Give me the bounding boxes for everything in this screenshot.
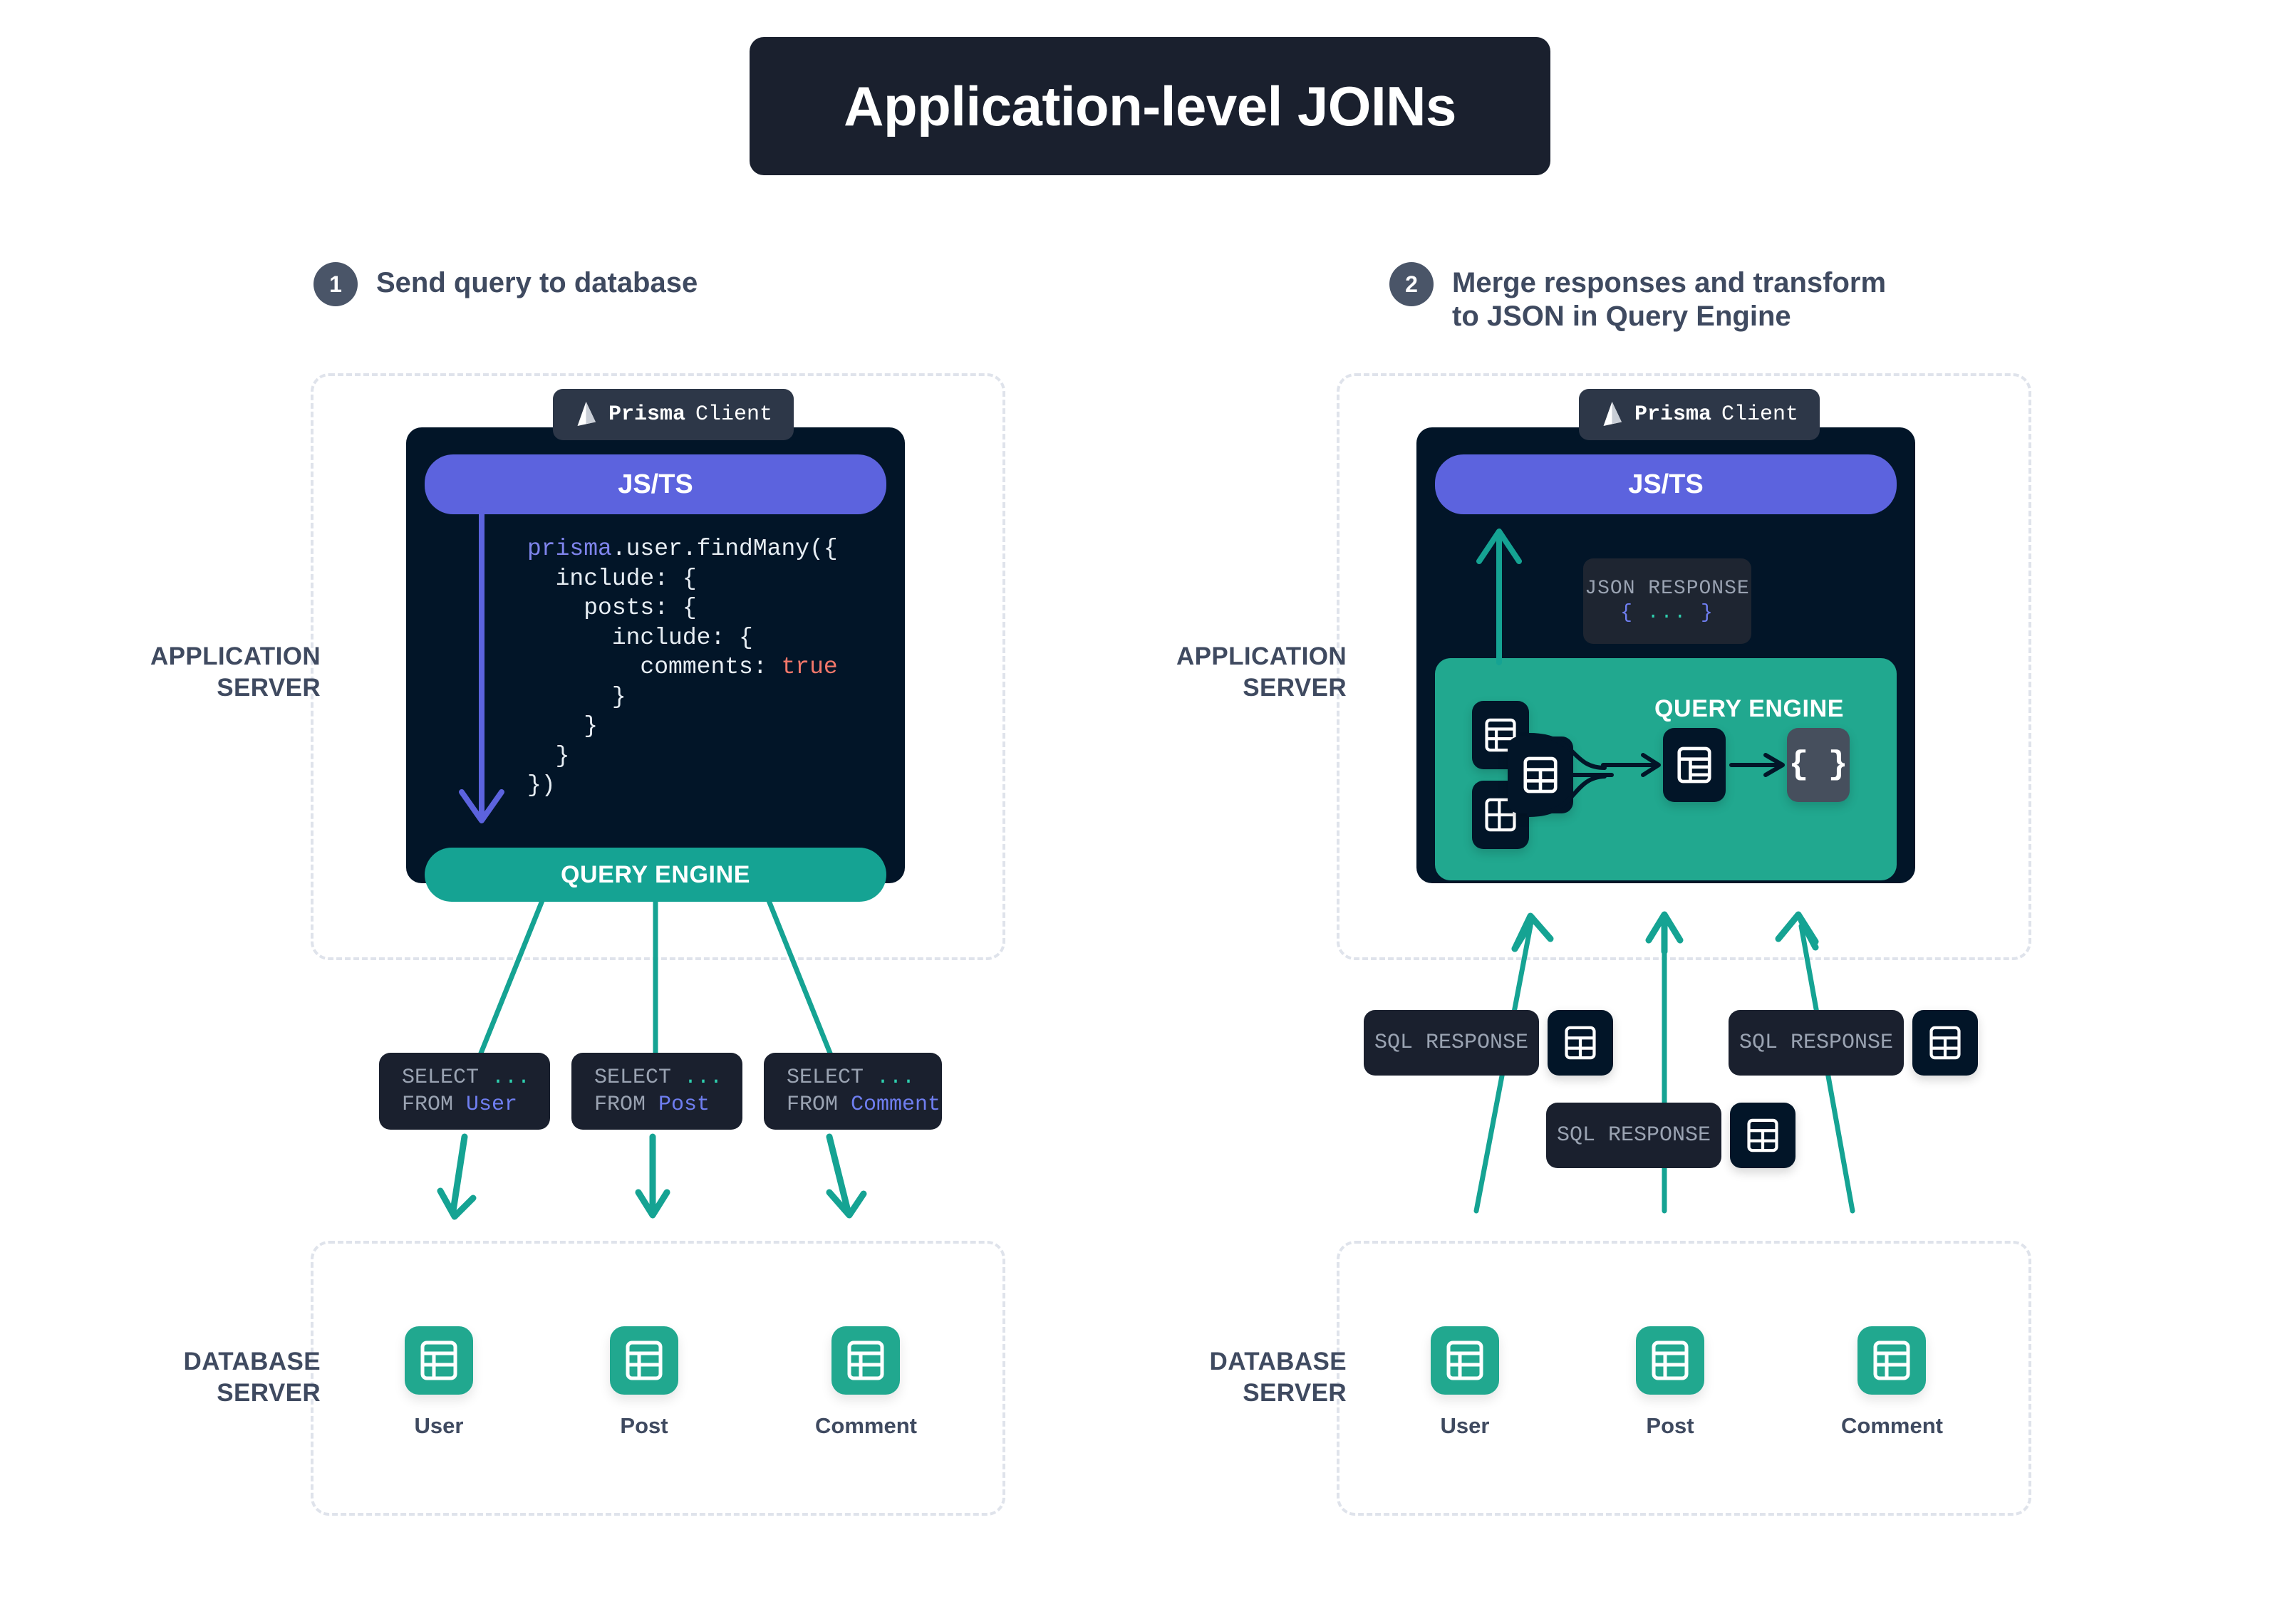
db-table-comment-left: Comment <box>815 1326 917 1439</box>
jsts-bar-left: JS/TS <box>425 454 886 514</box>
prisma-client-badge-left: Prisma Client <box>553 389 794 440</box>
code-line: prisma.user.findMany({ <box>527 534 838 564</box>
prisma-badge-name: Prisma <box>608 402 685 427</box>
label-application-server-left: APPLICATION SERVER <box>93 641 321 704</box>
db-table-label: User <box>1441 1413 1490 1439</box>
db-table-user-right: User <box>1431 1326 1499 1439</box>
jsts-label-left: JS/TS <box>618 469 693 500</box>
code-line: } <box>527 712 838 741</box>
code-block-prisma-query: prisma.user.findMany({ include: { posts:… <box>527 534 838 801</box>
merged-table-icon <box>1677 746 1711 784</box>
query-engine-label-left: QUERY ENGINE <box>561 861 750 889</box>
table-icon <box>610 1326 678 1395</box>
code-line: posts: { <box>527 593 838 623</box>
sql-response-table-tile-3 <box>1912 1010 1978 1076</box>
code-line: } <box>527 741 838 771</box>
table-icon-b-tile <box>1508 736 1573 813</box>
prisma-badge-name: Prisma <box>1634 402 1711 427</box>
jsts-bar-right: JS/TS <box>1435 454 1897 514</box>
label-application-server-right: APPLICATION SERVER <box>1119 641 1347 704</box>
label-database-server-right: DATABASE SERVER <box>1119 1346 1347 1409</box>
query-engine-bar-left: QUERY ENGINE <box>425 848 886 902</box>
sql-query-line-1: SELECT ... <box>402 1064 550 1091</box>
prisma-badge-sub: Client <box>1721 402 1798 427</box>
sql-response-label: SQL RESPONSE <box>1739 1029 1893 1056</box>
prisma-badge-sub: Client <box>695 402 772 427</box>
json-response-chip: JSON RESPONSE { ... } <box>1583 558 1751 644</box>
sql-response-chip-2: SQL RESPONSE <box>1546 1103 1721 1168</box>
json-braces-icon: { } <box>1789 746 1848 784</box>
sql-response-label: SQL RESPONSE <box>1557 1122 1711 1149</box>
code-line: include: { <box>527 564 838 594</box>
table-icon <box>1747 1118 1778 1152</box>
table-icon-b <box>1523 756 1558 793</box>
page-title: Application-level JOINs <box>750 37 1550 175</box>
code-line: comments: true <box>527 652 838 682</box>
arrow-select-to-db-post <box>638 1137 667 1215</box>
sql-response-table-tile-1 <box>1548 1010 1613 1076</box>
db-table-comment-right: Comment <box>1841 1326 1943 1439</box>
arrow-select-to-db-user <box>440 1137 473 1217</box>
prisma-logo-icon <box>1600 400 1624 429</box>
page-title-text: Application-level JOINs <box>844 74 1456 139</box>
step-1-badge: 1 <box>313 262 358 306</box>
table-icon <box>405 1326 473 1395</box>
table-icon <box>1565 1026 1596 1060</box>
code-line: } <box>527 682 838 712</box>
db-table-label: Comment <box>1841 1413 1943 1439</box>
step-2-title: Merge responses and transform to JSON in… <box>1452 262 1886 333</box>
table-icon <box>1431 1326 1499 1395</box>
sql-response-table-tile-2 <box>1730 1103 1795 1168</box>
code-line: }) <box>527 771 838 801</box>
db-table-label: User <box>415 1413 464 1439</box>
db-table-label: Comment <box>815 1413 917 1439</box>
sql-query-line-1: SELECT ... <box>787 1064 942 1091</box>
merged-table-icon-tile <box>1663 728 1726 802</box>
json-response-label: JSON RESPONSE <box>1585 577 1749 601</box>
table-icon <box>1929 1026 1961 1060</box>
sql-query-chip-user: SELECT ... FROM User <box>379 1053 550 1130</box>
sql-query-chip-comment: SELECT ... FROM Comment <box>764 1053 942 1130</box>
step-1-header: 1 Send query to database <box>313 262 698 306</box>
table-icon <box>1636 1326 1704 1395</box>
sql-query-line-2: FROM Comment <box>787 1091 942 1118</box>
prisma-client-badge-right: Prisma Client <box>1579 389 1820 440</box>
step-2-header: 2 Merge responses and transform to JSON … <box>1389 262 1886 333</box>
table-icon <box>1857 1326 1926 1395</box>
json-braces-icon-tile: { } <box>1787 728 1850 802</box>
sql-query-line-2: FROM Post <box>594 1091 742 1118</box>
step-2-badge: 2 <box>1389 262 1434 306</box>
label-database-server-left: DATABASE SERVER <box>93 1346 321 1409</box>
arrow-select-to-db-comment <box>829 1137 864 1215</box>
sql-query-chip-post: SELECT ... FROM Post <box>571 1053 742 1130</box>
query-engine-label-right: QUERY ENGINE <box>1654 695 1844 723</box>
step-1-title: Send query to database <box>376 262 698 300</box>
sql-response-chip-3: SQL RESPONSE <box>1729 1010 1904 1076</box>
sql-query-line-1: SELECT ... <box>594 1064 742 1091</box>
db-table-user-left: User <box>405 1326 473 1439</box>
json-response-body: { ... } <box>1620 601 1714 625</box>
sql-query-line-2: FROM User <box>402 1091 550 1118</box>
code-line: include: { <box>527 623 838 653</box>
jsts-label-right: JS/TS <box>1628 469 1704 500</box>
prisma-logo-icon <box>574 400 598 429</box>
table-icon <box>831 1326 900 1395</box>
db-table-label: Post <box>1646 1413 1694 1439</box>
db-table-post-left: Post <box>610 1326 678 1439</box>
sql-response-label: SQL RESPONSE <box>1374 1029 1528 1056</box>
sql-response-chip-1: SQL RESPONSE <box>1364 1010 1539 1076</box>
db-table-post-right: Post <box>1636 1326 1704 1439</box>
db-table-label: Post <box>620 1413 668 1439</box>
